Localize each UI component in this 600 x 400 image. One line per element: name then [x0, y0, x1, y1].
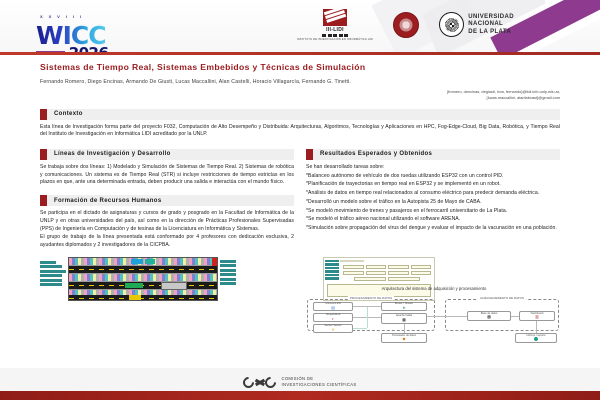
unlp-crest-icon [439, 12, 464, 37]
traffic-pixel-row-top [69, 258, 217, 265]
page-title: Sistemas de Tiempo Real, Sistemas Embebi… [40, 62, 560, 72]
traffic-legend-bars [40, 257, 66, 287]
resultados-items: *Balanceo autónomo de vehículo de dos ru… [306, 173, 560, 233]
architecture-node-procesador[interactable]: Procesador de datos ◆ [381, 333, 427, 343]
traffic-simulation-figure [40, 257, 315, 301]
architecture-node-kafka[interactable]: Apache Kafka ▦ [381, 313, 427, 324]
traffic-lane-1 [69, 266, 217, 273]
resultados-item: *Simulación sobre propagación del virus … [306, 225, 560, 233]
form-field-row-3 [340, 275, 434, 281]
form-field[interactable] [343, 265, 364, 269]
thermometer-icon: ◗ [332, 317, 334, 321]
formacion-paragraph-2: El grupo de trabajo de la línea presenta… [40, 234, 294, 249]
section-marker-icon [40, 149, 47, 160]
poster-header: X X V I I I WICC Bs.As 2026 III-LIDI INS… [0, 0, 600, 52]
section-header-formacion: Formación de Recursos Humanos [40, 195, 294, 206]
form-field[interactable] [366, 271, 387, 275]
unlp-seal-logo-icon [393, 12, 419, 38]
wicc-edition-number: X X V I I I [40, 14, 83, 19]
form-field[interactable] [411, 271, 432, 275]
cic-x-icon [255, 377, 264, 388]
dashboard-icon: ▥ [535, 315, 539, 319]
emails-line-2: {lucas.maccallini, alanfabcast}@gmail.co… [40, 95, 560, 101]
cic-mark-icon [243, 377, 276, 388]
wicc-event-logo: X X V I I I WICC Bs.As 2026 [36, 6, 108, 52]
architecture-edge-8 [536, 321, 537, 333]
gear-icon: ✳ [331, 328, 334, 332]
section-body-lineas: Se trabaja sobre dos líneas: 1) Modelado… [40, 164, 294, 187]
kafka-icon: ▦ [402, 318, 406, 322]
unlp-crest-label: UNIVERSIDAD NACIONAL DE LA PLATA [468, 14, 514, 37]
poster-footer: COMISIÓN DE INVESTIGACIONES CIENTÍFICAS [0, 368, 600, 400]
author-list: Fernando Romero, Diego Encinas, Armando … [40, 79, 560, 87]
traffic-panel [161, 282, 187, 290]
iii-lidi-logo: III-LIDI INSTITUTO DE INVESTIGACIÓN EN I… [297, 9, 373, 41]
architecture-node-informe[interactable]: Informe / reporte ⬤ [515, 333, 557, 343]
section-marker-icon [40, 109, 47, 120]
two-column-area: Líneas de Investigación y Desarrollo Se … [40, 141, 560, 251]
traffic-vehicle-teal [145, 259, 155, 264]
form-field[interactable] [388, 277, 420, 281]
architecture-node-temperatura[interactable]: Temperatura ◗ [313, 313, 353, 322]
architecture-node-base-datos[interactable]: Base de datos ▩ [467, 311, 511, 321]
stream-icon: ➤ [402, 306, 405, 310]
cic-label: COMISIÓN DE INVESTIGACIONES CIENTÍFICAS [281, 376, 356, 388]
iii-lidi-sublabel: INSTITUTO DE INVESTIGACIÓN EN INFORMÁTIC… [297, 38, 373, 41]
form-field-label [340, 260, 364, 262]
section-title-resultados: Resultados Esperados y Obtenidos [313, 149, 432, 160]
cic-label-line2: INVESTIGACIONES CIENTÍFICAS [281, 382, 356, 388]
architecture-node-dashboard[interactable]: Dashboard ▥ [519, 311, 555, 321]
architecture-group-label-1: PROCESAMIENTO DE DATOS [348, 296, 394, 300]
architecture-canvas: PROCESAMIENTO DE DATOS ALMACENAMIENTO DE… [305, 293, 563, 345]
cic-c2-icon [263, 374, 279, 390]
resultados-item: *Desarrolló un modelo sobre el tráfico e… [306, 199, 560, 207]
traffic-vehicle-blue [131, 259, 143, 264]
resultados-item: *Planificación de trayectorias en tiempo… [306, 181, 560, 189]
section-body-contexto: Esta línea de Investigación forma parte … [40, 124, 560, 139]
architecture-edge-6 [427, 316, 467, 317]
chart-icon: ▤ [331, 306, 335, 310]
cic-c-icon [241, 374, 257, 390]
footer-red-rule [0, 391, 600, 400]
wicc-location: Bs.As [36, 51, 65, 52]
section-title-lineas: Líneas de Investigación y Desarrollo [47, 149, 171, 160]
architecture-edge-3 [353, 328, 367, 329]
database-icon: ▩ [487, 315, 491, 319]
architecture-node-consumo[interactable]: Consumo kW ▤ [313, 302, 353, 311]
form-field[interactable] [354, 277, 386, 281]
iii-lidi-mark-icon [323, 9, 347, 26]
resultados-item: *Se modeló movimiento de trenes y pasaje… [306, 208, 560, 216]
iii-lidi-label: III-LIDI [297, 27, 373, 33]
form-field[interactable] [411, 265, 432, 269]
iii-lidi-dashes-icon [297, 34, 373, 37]
form-field[interactable] [388, 265, 409, 269]
traffic-right-bars [220, 257, 236, 286]
resultados-intro: Se han desarrollado tareas sobre: [306, 164, 560, 172]
system-architecture-diagram: Arquitectura del sistema de adquisición … [305, 284, 563, 345]
section-marker-icon [306, 149, 313, 160]
resultados-item: *Balanceo autónomo de vehículo de dos ru… [306, 173, 560, 181]
form-field[interactable] [388, 271, 409, 275]
left-figures [40, 257, 315, 301]
report-icon: ⬤ [534, 337, 538, 341]
architecture-diagram-title: Arquitectura del sistema de adquisición … [305, 286, 563, 291]
resultados-item: *Análisis de datos en tiempo real relaci… [306, 190, 560, 198]
author-emails: {fromero, dencinas, degiusti, hvw, ferna… [40, 89, 560, 101]
architecture-edge-4 [367, 307, 368, 328]
poster-root: X X V I I I WICC Bs.As 2026 III-LIDI INS… [0, 0, 600, 400]
left-column: Líneas de Investigación y Desarrollo Se … [40, 141, 294, 251]
architecture-edge-7 [511, 316, 519, 317]
traffic-pixel-row-mid1 [69, 274, 217, 281]
unlp-crest-logo: UNIVERSIDAD NACIONAL DE LA PLATA [439, 12, 514, 37]
traffic-vehicle-yellow [129, 295, 141, 300]
poster-body: Sistemas de Tiempo Real, Sistemas Embebi… [0, 55, 600, 301]
section-header-lineas: Líneas de Investigación y Desarrollo [40, 149, 294, 160]
section-header-contexto: Contexto [40, 109, 560, 120]
section-title-formacion: Formación de Recursos Humanos [47, 195, 162, 206]
processor-icon: ◆ [402, 337, 405, 341]
unlp-label-line1: UNIVERSIDAD [468, 14, 514, 22]
section-body-resultados: Se han desarrollado tareas sobre: *Balan… [306, 164, 560, 233]
architecture-group-label-2: ALMACENAMIENTO DE DATOS [478, 296, 526, 300]
architecture-edge-5 [404, 324, 405, 333]
section-header-resultados: Resultados Esperados y Obtenidos [306, 149, 560, 160]
section-body-formacion: Se participa en el dictado de asignatura… [40, 210, 294, 250]
section-title-contexto: Contexto [47, 109, 83, 120]
form-field[interactable] [366, 265, 387, 269]
resultados-item: *Se modeló el tráfico aéreo nacional uti… [306, 216, 560, 224]
traffic-signal-red [212, 258, 218, 266]
section-marker-icon [40, 195, 47, 206]
traffic-lane-2 [69, 282, 217, 289]
wicc-year: 2026 [69, 46, 109, 52]
form-side-bars [325, 260, 339, 281]
architecture-node-broker[interactable]: Broker / Stream ➤ [381, 302, 427, 311]
formacion-paragraph-1: Se participa en el dictado de asignatura… [40, 210, 294, 233]
traffic-vehicle-green [125, 283, 143, 288]
architecture-node-sensor[interactable]: Sensor Sensor ✳ [313, 324, 353, 333]
unlp-label-line2: NACIONAL [468, 21, 514, 29]
institution-logos: III-LIDI INSTITUTO DE INVESTIGACIÓN EN I… [297, 9, 514, 41]
unlp-label-line3: DE LA PLATA [468, 29, 514, 37]
traffic-road-canvas [68, 257, 218, 301]
right-column: Resultados Esperados y Obtenidos Se han … [306, 141, 560, 251]
form-field[interactable] [343, 271, 364, 275]
cic-logo: COMISIÓN DE INVESTIGACIONES CIENTÍFICAS [243, 376, 356, 388]
traffic-lane-3 [69, 295, 217, 301]
